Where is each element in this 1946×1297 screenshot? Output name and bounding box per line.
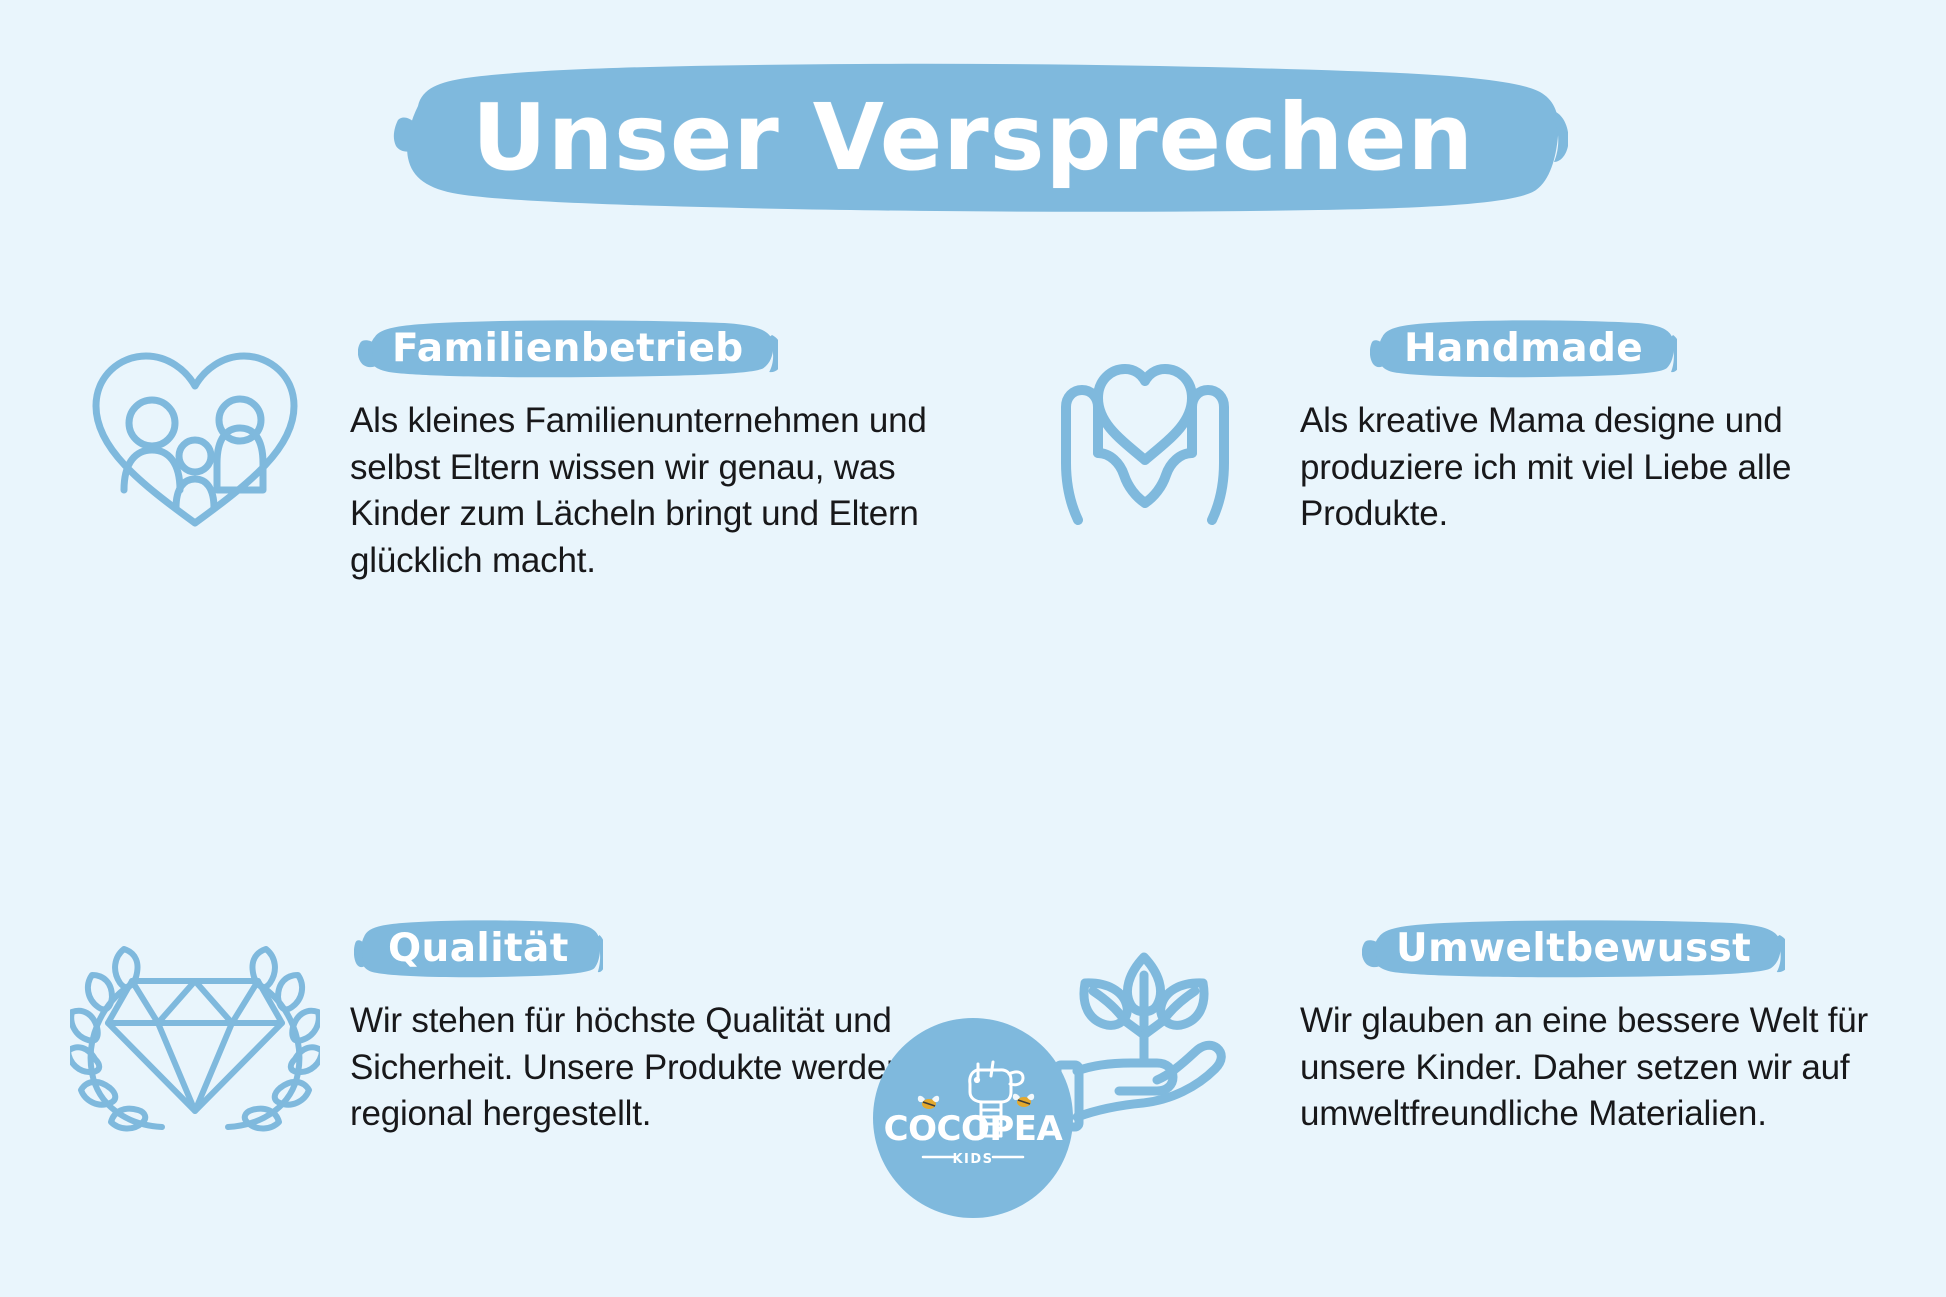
cocopea-logo[interactable]: COCOPEA KIDS xyxy=(873,1018,1073,1218)
badge-qualitaet: Qualität xyxy=(354,920,603,978)
page-title: Unser Versprechen xyxy=(0,62,1946,212)
feature-handmade-text: Als kreative Mama designe und produziere… xyxy=(1300,398,1930,538)
bee-icon xyxy=(918,1096,939,1109)
badge-handmade-label: Handmade xyxy=(1404,320,1643,378)
page-header: Unser Versprechen xyxy=(0,62,1946,212)
logo-wordmark: COCOPEA xyxy=(884,1109,1064,1149)
badge-umweltbewusst: Umweltbewusst xyxy=(1362,920,1785,978)
feature-familienbetrieb-text: Als kleines Familienunternehmen und selb… xyxy=(350,398,980,584)
badge-familienbetrieb: Familienbetrieb xyxy=(358,320,778,378)
promise-grid: Familienbetrieb Als kleines Familienunte… xyxy=(0,320,1946,980)
feature-umweltbewusst-content: Umweltbewusst Wir glauben an eine besser… xyxy=(1300,920,1930,1138)
family-heart-icon xyxy=(60,320,330,550)
bee-icon xyxy=(1013,1094,1034,1107)
logo-tagline: KIDS xyxy=(952,1152,993,1167)
badge-umweltbewusst-label: Umweltbewusst xyxy=(1396,920,1751,978)
diamond-laurel-icon xyxy=(60,920,330,1150)
badge-handmade: Handmade xyxy=(1370,320,1677,378)
cocopea-logo-art: COCOPEA KIDS xyxy=(873,1018,1073,1218)
feature-handmade-content: Handmade Als kreative Mama designe und p… xyxy=(1300,320,1930,538)
promise-row-2: Qualität Wir stehen für höchste Qualität… xyxy=(0,650,1946,980)
feature-umweltbewusst-text: Wir glauben an eine bessere Welt für uns… xyxy=(1300,998,1930,1138)
hands-holding-heart-icon xyxy=(1010,320,1280,550)
feature-familienbetrieb-content: Familienbetrieb Als kleines Familienunte… xyxy=(350,320,980,584)
badge-qualitaet-label: Qualität xyxy=(388,920,569,978)
promise-row-1: Familienbetrieb Als kleines Familienunte… xyxy=(0,320,1946,670)
badge-familienbetrieb-label: Familienbetrieb xyxy=(392,320,744,378)
